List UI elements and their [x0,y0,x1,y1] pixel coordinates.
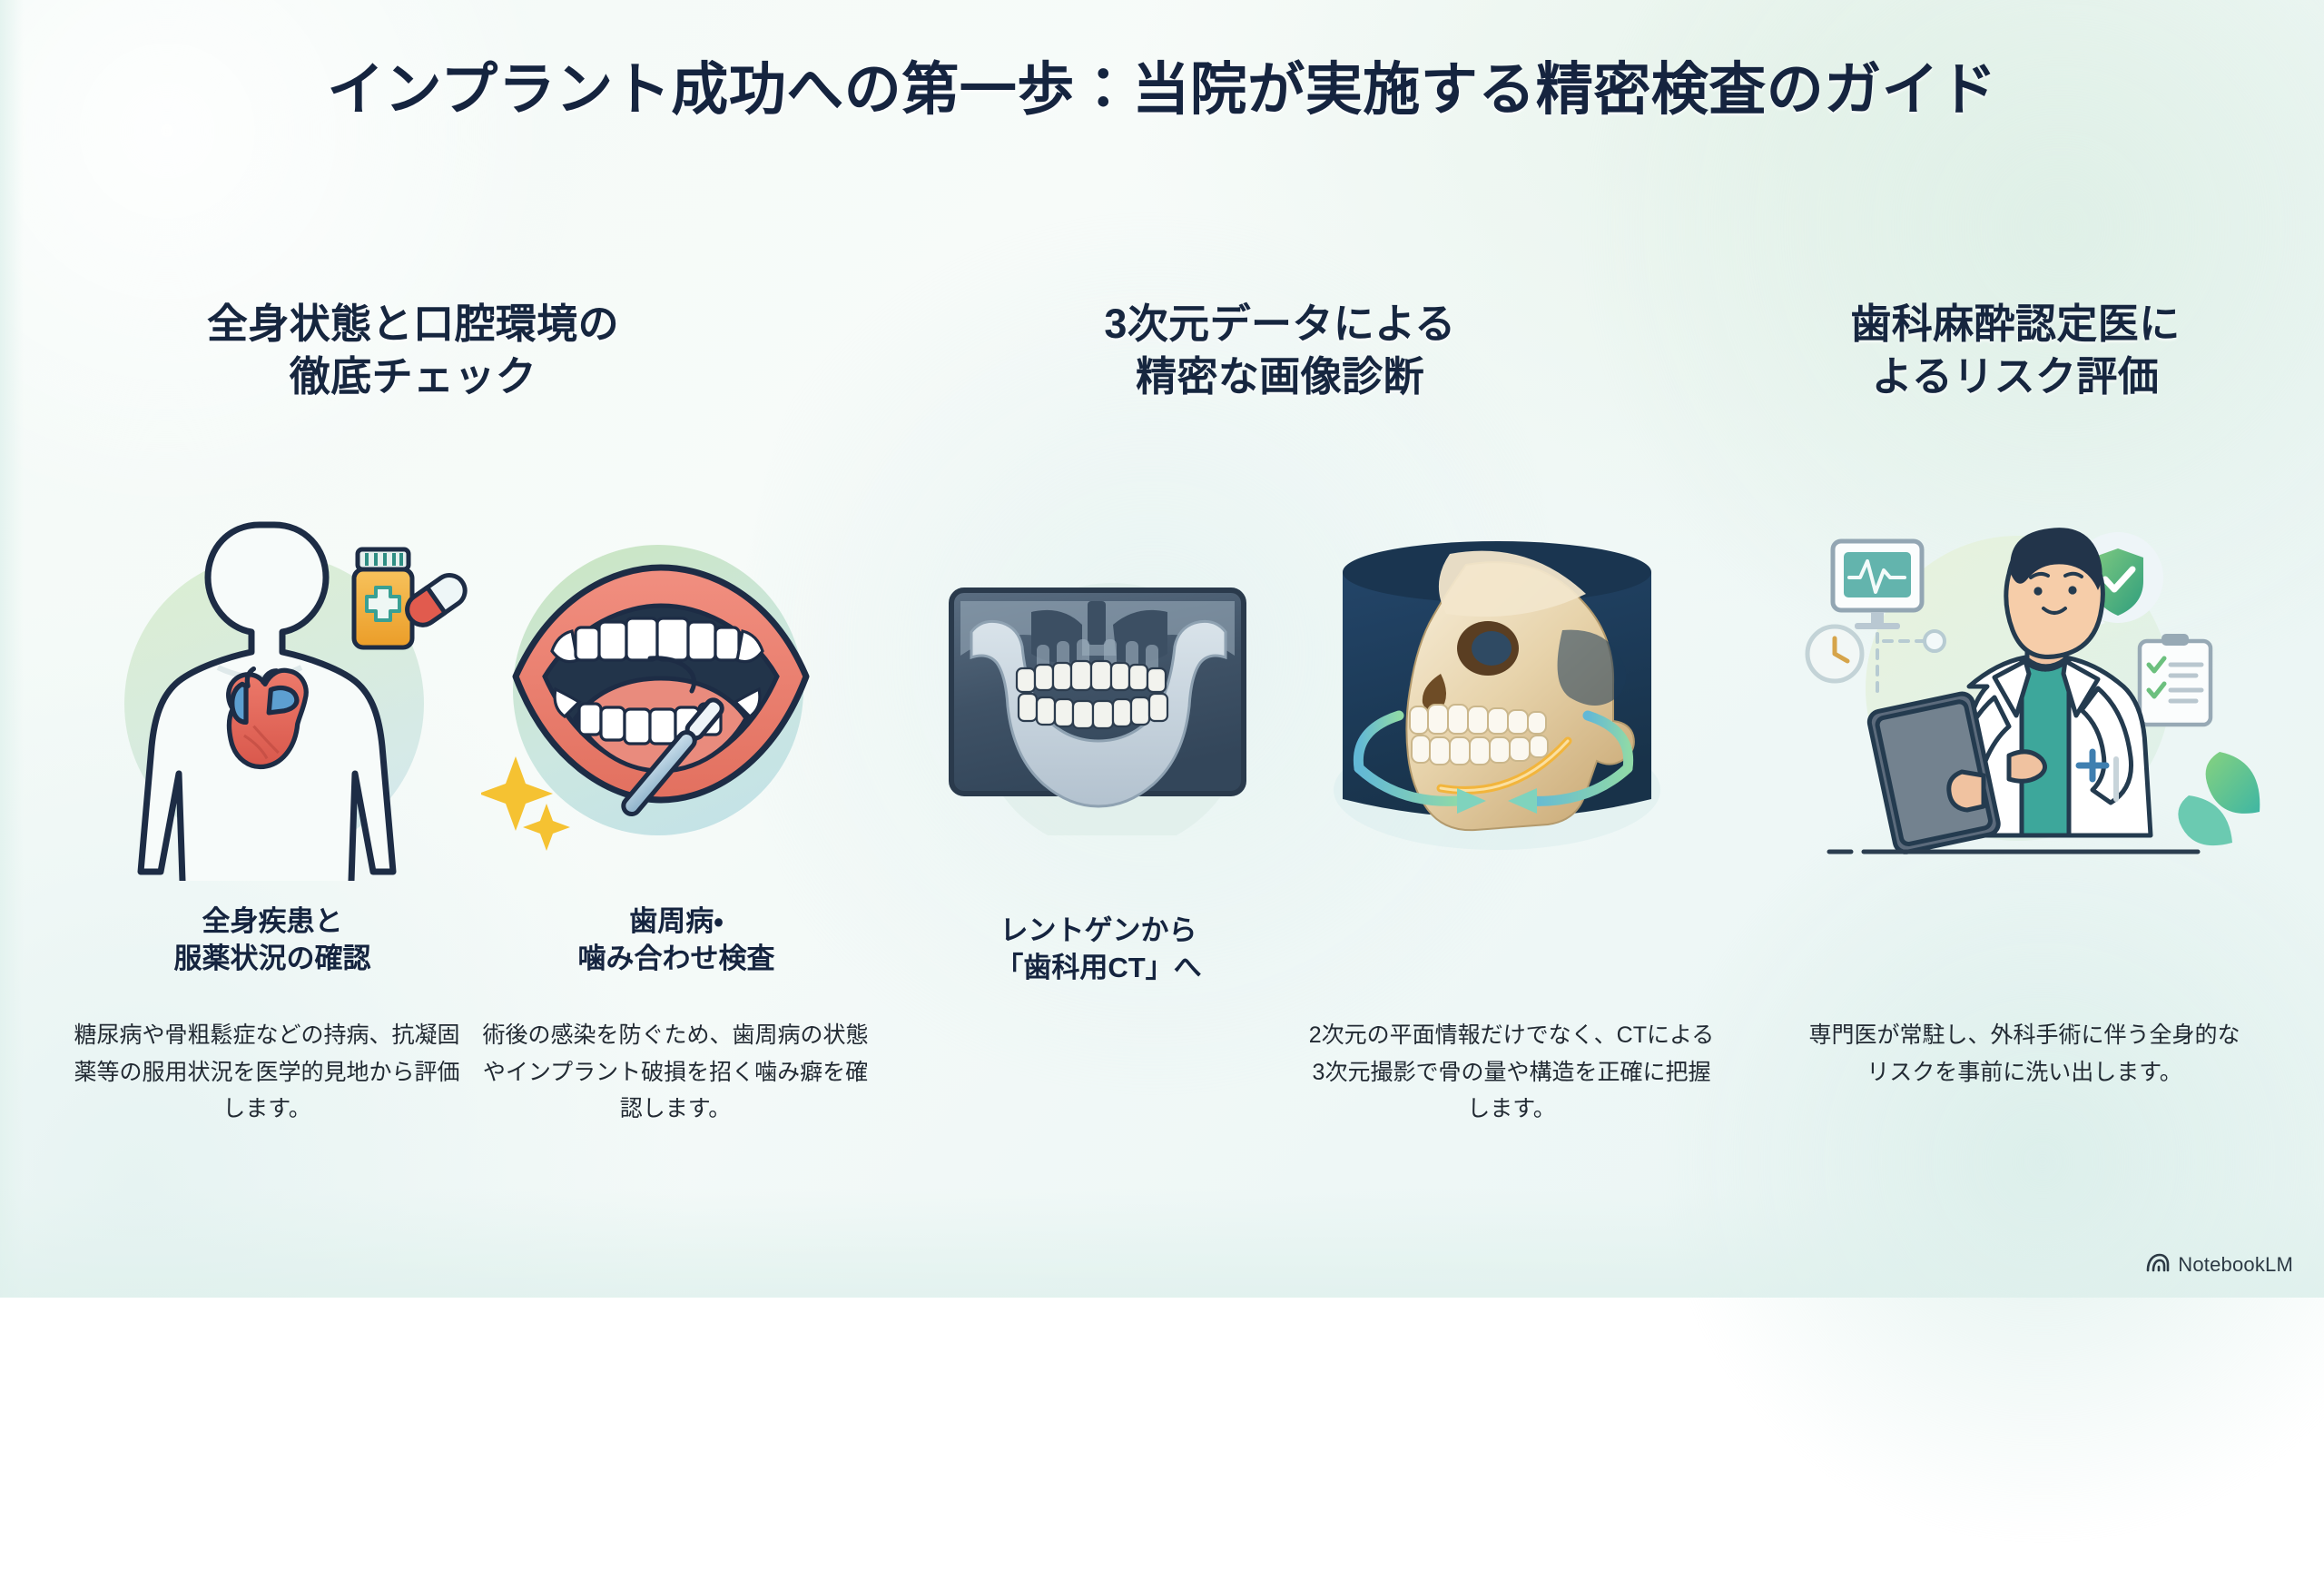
decorative-blob [1634,753,2324,1570]
column-heading-line1: 3次元データによる [994,298,1566,351]
caption-line1: レントゲンから [917,913,1280,950]
column-heading-line1: 歯科麻酔認定医に [1752,298,2279,351]
card-body-ct-volume: 2次元の平面情報だけでなく、CTによる3次元撮影で骨の量や構造を正確に把握します… [1303,1017,1720,1128]
caption-line2: 噛み合わせ検査 [486,941,867,978]
notebooklm-watermark: NotebookLM [2146,1252,2293,1278]
column-heading-line2: 徹底チェック [91,351,735,403]
doctor-with-tablet-illustration [1793,509,2265,872]
column-heading-anesthesia-risk: 歯科麻酔認定医に よるリスク評価 [1752,298,2279,402]
card-caption-periodontal-bite: 歯周病・ 噛み合わせ検査 [486,903,867,978]
column-heading-3d-imaging: 3次元データによる 精密な画像診断 [994,298,1566,402]
column-heading-line2: よるリスク評価 [1752,351,2279,403]
panoramic-xray-illustration [944,581,1262,835]
caption-line1: 全身疾患と [82,903,463,941]
body-heart-medication-illustration [82,509,508,881]
caption-line2: 服薬状況の確認 [82,941,463,978]
page-title: インプラント成功への第一歩：当院が実施する精密検査のガイド [0,44,2324,126]
caption-line2: 「歯科用CT」へ [917,950,1280,987]
open-mouth-dental-probe-illustration [481,540,890,881]
card-caption-xray-to-ct: レントゲンから 「歯科用CT」へ [917,913,1280,987]
column-heading-line1: 全身状態と口腔環境の [91,298,735,351]
caption-line1: 歯周病・ [486,903,867,941]
ct-3d-skull-illustration [1303,518,1684,899]
decorative-edge [0,0,24,1298]
card-caption-systemic-disease: 全身疾患と 服薬状況の確認 [82,903,463,978]
card-body-systemic-disease: 糖尿病や骨粗鬆症などの持病、抗凝固薬等の服用状況を医学的見地から評価します。 [71,1017,463,1128]
notebooklm-logo-icon [2146,1252,2170,1278]
decorative-edge [0,1189,2324,1298]
column-heading-line2: 精密な画像診断 [994,351,1566,403]
column-heading-general-condition: 全身状態と口腔環境の 徹底チェック [91,298,735,402]
notebooklm-label: NotebookLM [2178,1253,2293,1277]
card-body-specialist-risk: 専門医が常駐し、外科手術に伴う全身的なリスクを事前に洗い出します。 [1807,1017,2242,1091]
card-body-periodontal-bite: 術後の感染を防ぐため、歯周病の状態やインプラント破損を招く噛み癖を確認します。 [479,1017,871,1128]
infographic-poster: インプラント成功への第一歩：当院が実施する精密検査のガイド 全身状態と口腔環境の… [0,0,2324,1298]
